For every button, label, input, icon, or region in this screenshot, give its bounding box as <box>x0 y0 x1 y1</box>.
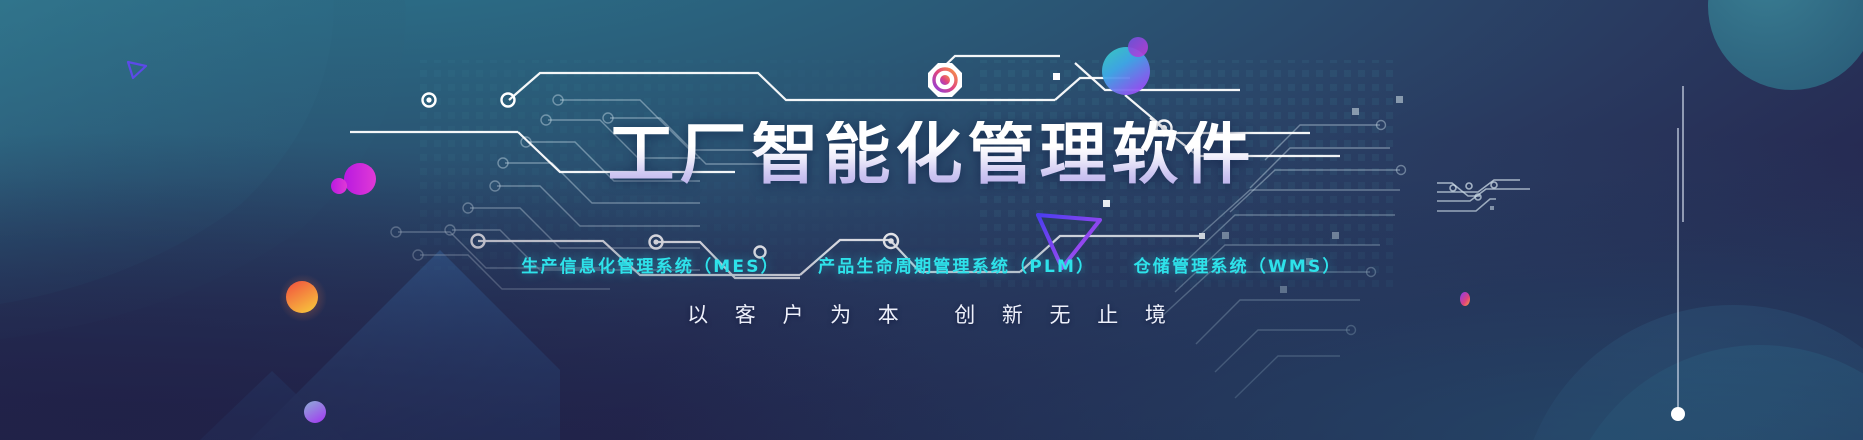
small-triangle-outline-icon <box>128 62 146 78</box>
orange-gradient-dot-icon <box>286 281 318 313</box>
magenta-blob-icon <box>331 163 376 195</box>
accent-decorations <box>0 0 1863 440</box>
octagon-node-icon <box>928 63 962 97</box>
vertical-guide-lines <box>1678 86 1683 412</box>
hero-banner: 工厂智能化管理软件 生产信息化管理系统（MES） 产品生命周期管理系统（PLM）… <box>0 0 1863 440</box>
small-gradient-sphere-icon <box>1128 37 1148 57</box>
mini-gradient-mark-icon <box>1460 292 1470 306</box>
purple-dot-icon <box>304 401 326 423</box>
white-dot-icon <box>1671 407 1685 421</box>
purple-triangle-icon <box>1038 215 1100 268</box>
